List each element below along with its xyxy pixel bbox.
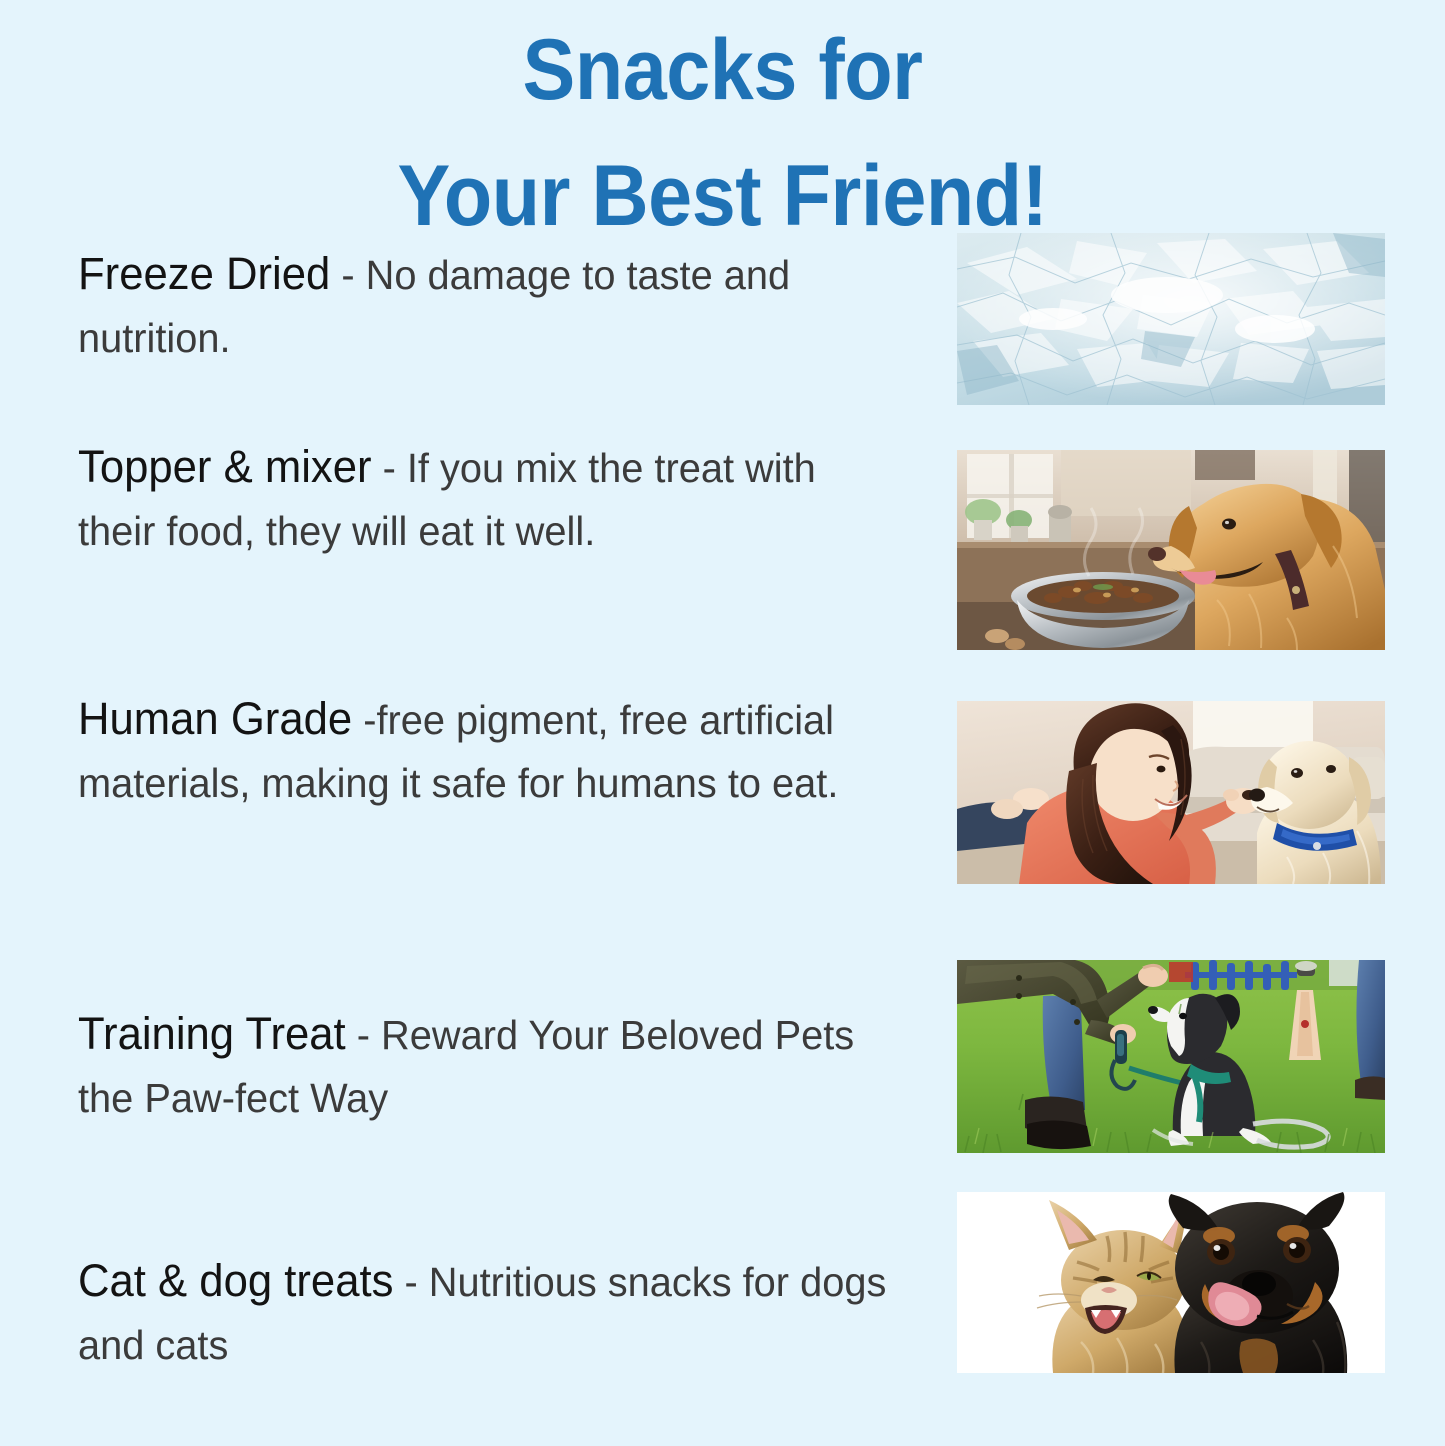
golden-retriever-illustration bbox=[957, 450, 1385, 650]
golden-retriever-with-food-bowl-photo bbox=[957, 450, 1385, 650]
ice-texture-illustration bbox=[957, 233, 1385, 405]
page-title: Snacks for Your Best Friend! bbox=[58, 8, 1387, 259]
feature-lead-freeze-dried: Freeze Dried bbox=[78, 248, 330, 299]
page-title-line-1: Snacks for bbox=[58, 8, 1387, 134]
feature-lead-training-treat: Training Treat bbox=[78, 1008, 346, 1059]
woman-and-puppy-illustration bbox=[957, 701, 1385, 884]
feature-text-freeze-dried: Freeze Dried - No damage to taste and nu… bbox=[78, 241, 893, 368]
dog-training-on-grass-photo bbox=[957, 960, 1385, 1153]
ice-texture-photo bbox=[957, 233, 1385, 405]
feature-text-training-treat: Training Treat - Reward Your Beloved Pet… bbox=[78, 1001, 893, 1128]
feature-text-topper-and-mixer: Topper & mixer - If you mix the treat wi… bbox=[78, 434, 893, 561]
feature-text-human-grade: Human Grade -free pigment, free artifici… bbox=[78, 686, 893, 813]
feature-lead-human-grade: Human Grade bbox=[78, 693, 352, 744]
feature-lead-cat-and-dog-treats: Cat & dog treats bbox=[78, 1255, 393, 1306]
cat-and-dog-together-photo bbox=[957, 1192, 1385, 1373]
dog-training-illustration bbox=[957, 960, 1385, 1153]
feature-lead-topper-and-mixer: Topper & mixer bbox=[78, 441, 372, 492]
infographic-page: Snacks for Your Best Friend! Freeze Drie… bbox=[0, 0, 1445, 1446]
cat-and-dog-illustration bbox=[957, 1192, 1385, 1373]
feature-text-cat-and-dog-treats: Cat & dog treats - Nutritious snacks for… bbox=[78, 1248, 893, 1375]
woman-feeding-puppy-treat-photo bbox=[957, 701, 1385, 884]
